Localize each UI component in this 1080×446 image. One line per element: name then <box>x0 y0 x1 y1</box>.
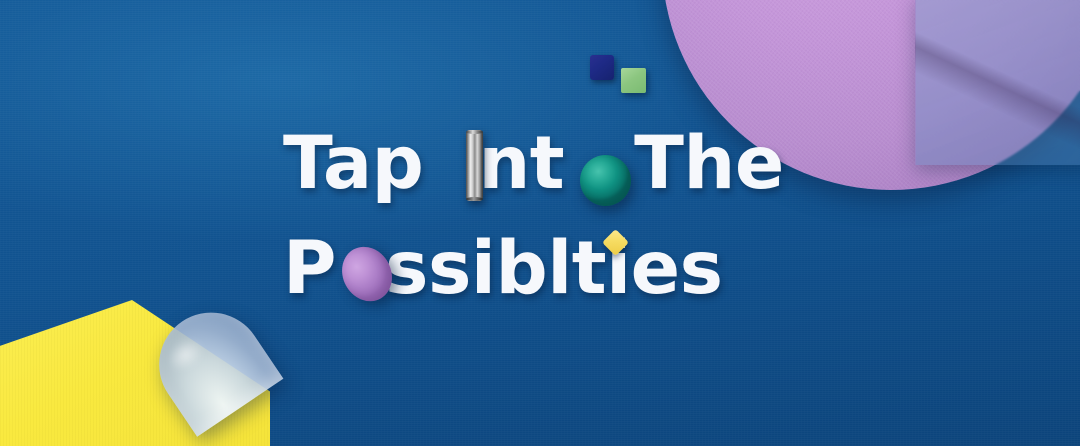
metal-cylinder-shape <box>466 130 483 201</box>
glass-panel-shape <box>915 0 1080 165</box>
green-square-shape <box>621 68 646 93</box>
banner-canvas: Tap nt The Pssiblties <box>0 0 1080 446</box>
navy-square-shape <box>590 55 614 80</box>
teal-sphere-shape <box>580 155 631 206</box>
